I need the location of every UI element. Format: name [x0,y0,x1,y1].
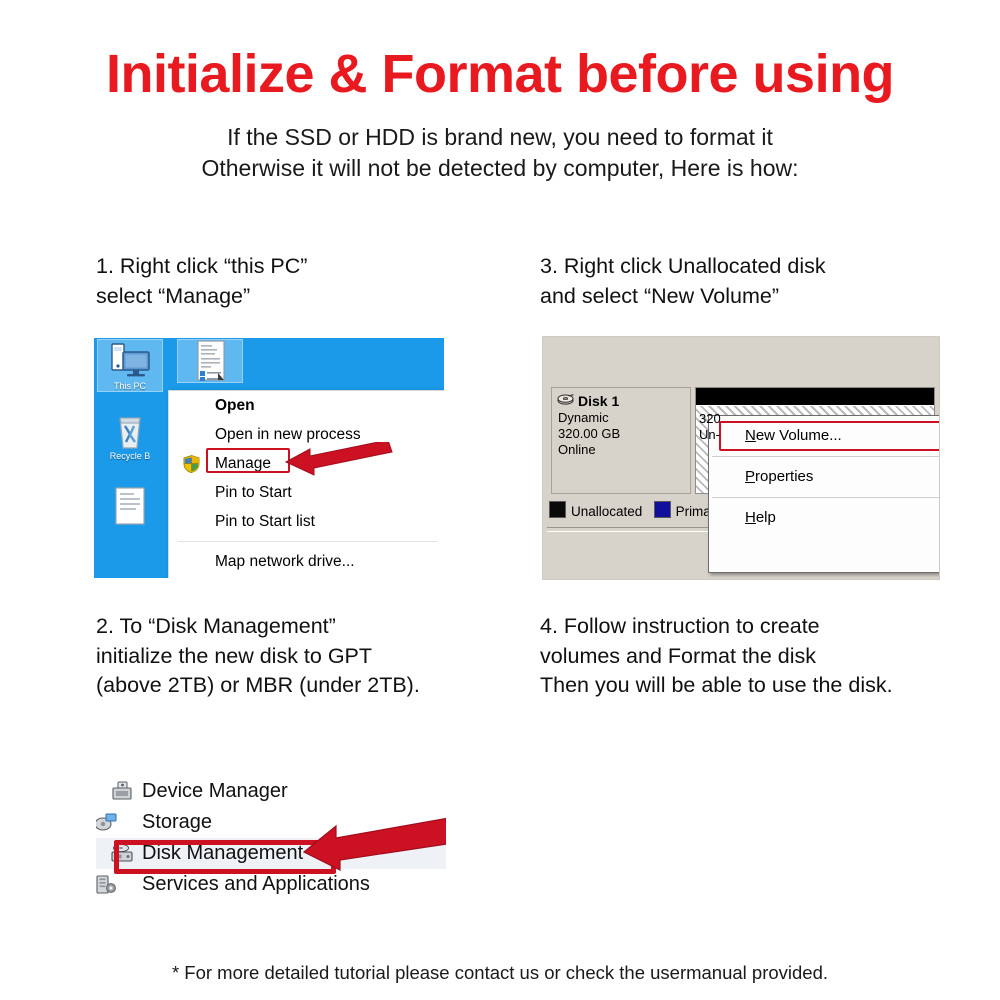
disk-management-callout-arrow-icon [302,812,446,872]
context-menu: Open Open in new process Manage [168,390,444,578]
step-2-caption: 2. To “Disk Management” initialize the n… [96,612,420,701]
shield-icon [183,455,200,473]
disk-status: Online [558,442,690,458]
disk-info-box[interactable]: Disk 1 Dynamic 320.00 GB Online [551,387,691,494]
services-icon [96,874,118,895]
step-3-line-2: and select “New Volume” [540,282,826,312]
menu-item-pin-to-start[interactable]: Pin to Start [169,478,444,507]
subtitle-line-1: If the SSD or HDD is brand new, you need… [0,122,1000,153]
step-3-line-1: 3. Right click Unallocated disk [540,252,826,282]
step-1-line-2: select “Manage” [96,282,307,312]
computer-management-tree-screenshot: Device Manager Storage [96,774,446,902]
menu-item-open[interactable]: Open [169,391,444,420]
recycle-bin-icon [98,410,162,452]
step-4-line-1: 4. Follow instruction to create [540,612,893,642]
menu-separator [177,541,437,542]
disk-type: Dynamic [558,410,690,426]
document-icon [98,486,162,528]
disk-management-screenshot: Disk 1 Dynamic 320.00 GB Online 320 Un- … [542,336,940,580]
tree-item-storage-label: Storage [142,811,212,833]
step-2-line-1: 2. To “Disk Management” [96,612,420,642]
disk-context-menu: New Volume... Properties Help [708,415,940,573]
tree-item-device-manager[interactable]: Device Manager [96,776,446,807]
disk-name: Disk 1 [578,393,619,409]
partition-header-bar [696,388,934,405]
legend-label-primary: Prima [676,504,711,519]
step-4-line-2: volumes and Format the disk [540,642,893,672]
manage-callout-arrow-icon [284,442,394,482]
desktop-icon-this-pc-label: This PC [114,381,146,391]
step-2-line-2: initialize the new disk to GPT [96,642,420,672]
menu-item-manage-label: Manage [215,455,271,472]
infographic-page: Initialize & Format before using If the … [0,0,1000,1000]
disk-menu-item-new-volume[interactable]: New Volume... [709,416,940,456]
disk-menu-item-properties-label: roperties [755,468,813,485]
page-subtitle: If the SSD or HDD is brand new, you need… [0,122,1000,184]
disk-menu-item-properties[interactable]: Properties [709,457,940,497]
menu-item-map-network-drive[interactable]: Map network drive... [169,547,444,576]
disk-capacity: 320.00 GB [558,426,690,442]
menu-item-pin-to-start-label: Pin to Start [215,484,292,501]
disk-menu-item-help[interactable]: Help [709,498,940,538]
tree-item-services-and-applications-label: Services and Applications [142,873,370,895]
legend-swatch-unallocated [549,501,566,518]
menu-item-pin-to-start-list[interactable]: Pin to Start list [169,507,444,536]
desktop-icon-document[interactable] [98,486,162,528]
desktop-icon-recycle-bin-label: Recycle B [110,451,151,461]
subtitle-line-2: Otherwise it will not be detected by com… [0,153,1000,184]
desktop-icon-this-pc[interactable]: This PC [98,340,162,391]
footnote: * For more detailed tutorial please cont… [0,962,1000,984]
desktop-icon-text-document[interactable] [178,340,242,382]
disk-menu-item-help-accel: H [745,509,756,526]
step-4-line-3: Then you will be able to use the disk. [540,671,893,701]
legend-label-unallocated: Unallocated [571,504,642,519]
disk-management-icon [110,843,134,864]
page-title: Initialize & Format before using [0,46,1000,103]
disk-title-row: Disk 1 [558,393,690,410]
disk-menu-item-new-volume-label: ew Volume... [756,427,842,444]
storage-icon [96,812,118,833]
menu-item-pin-to-start-list-label: Pin to Start list [215,513,315,530]
tree-item-services-and-applications[interactable]: Services and Applications [96,869,446,900]
legend-swatch-primary [654,501,671,518]
step-4-caption: 4. Follow instruction to create volumes … [540,612,893,701]
tree-item-device-manager-label: Device Manager [142,780,288,802]
desktop-icon-recycle-bin[interactable]: Recycle B [98,410,162,461]
disk-menu-item-new-volume-accel: N [745,427,756,444]
disk-menu-item-help-label: elp [756,509,776,526]
step-1-caption: 1. Right click “this PC” select “Manage” [96,252,307,311]
menu-item-open-label: Open [215,397,255,414]
partition-size: 320 [699,411,721,427]
step-1-line-1: 1. Right click “this PC” [96,252,307,282]
computer-icon [98,340,162,382]
disk-icon [557,394,574,405]
text-document-icon [178,340,242,382]
menu-item-open-in-new-process-label: Open in new process [215,426,361,443]
partition-status: Un- [699,427,721,443]
step-3-caption: 3. Right click Unallocated disk and sele… [540,252,826,311]
step-2-line-3: (above 2TB) or MBR (under 2TB). [96,671,420,701]
menu-item-map-network-drive-label: Map network drive... [215,553,355,570]
partition-labels: 320 Un- [699,411,721,444]
desktop-context-menu-screenshot: This PC Recycle B [94,338,444,578]
tree-item-disk-management-label: Disk Management [142,842,303,864]
device-manager-icon [110,781,134,802]
disk-menu-item-properties-accel: P [745,468,755,485]
